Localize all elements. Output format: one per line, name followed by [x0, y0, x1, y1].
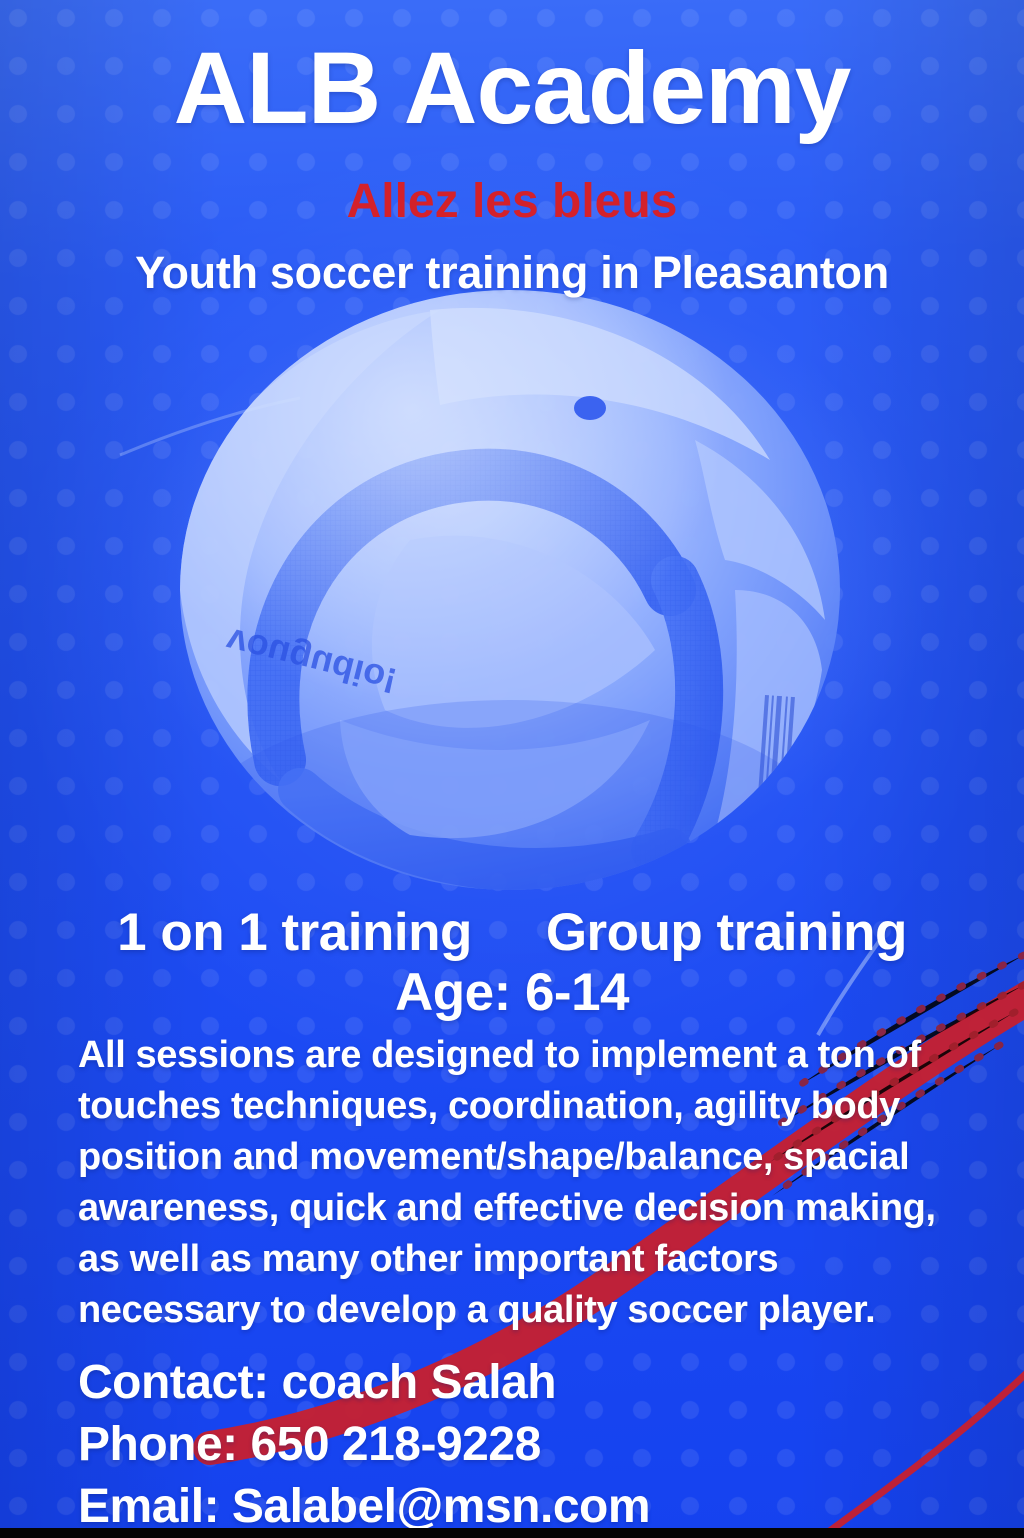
description-line: necessary to develop a quality soccer pl… [78, 1285, 958, 1336]
description-line: awareness, quick and effective decision … [78, 1183, 958, 1234]
offer-group: Group training [546, 902, 907, 963]
description-line: as well as many other important factors [78, 1234, 958, 1285]
description-paragraph: All sessions are designed to implement a… [78, 1030, 958, 1336]
page-title: ALB Academy [0, 34, 1024, 142]
tagline-english: Youth soccer training in Pleasanton [0, 248, 1024, 298]
description-line: position and movement/shape/balance, spa… [78, 1132, 958, 1183]
offer-row: 1 on 1 training Group training [0, 902, 1024, 963]
contact-block: Contact: coach Salah Phone: 650 218-9228… [78, 1352, 978, 1538]
description-line: touches techniques, coordination, agilit… [78, 1081, 958, 1132]
contact-name: Contact: coach Salah [78, 1352, 978, 1414]
contact-phone[interactable]: Phone: 650 218-9228 [78, 1414, 978, 1476]
age-range: Age: 6-14 [0, 962, 1024, 1023]
description-line: All sessions are designed to implement a… [78, 1030, 958, 1081]
poster-content: ALB Academy Allez les bleus Youth soccer… [0, 0, 1024, 1538]
offer-one-on-one: 1 on 1 training [117, 902, 472, 963]
bottom-black-bar [0, 1528, 1024, 1538]
tagline-french: Allez les bleus [0, 176, 1024, 229]
poster-canvas: vougudio! ALB Academy A [0, 0, 1024, 1538]
